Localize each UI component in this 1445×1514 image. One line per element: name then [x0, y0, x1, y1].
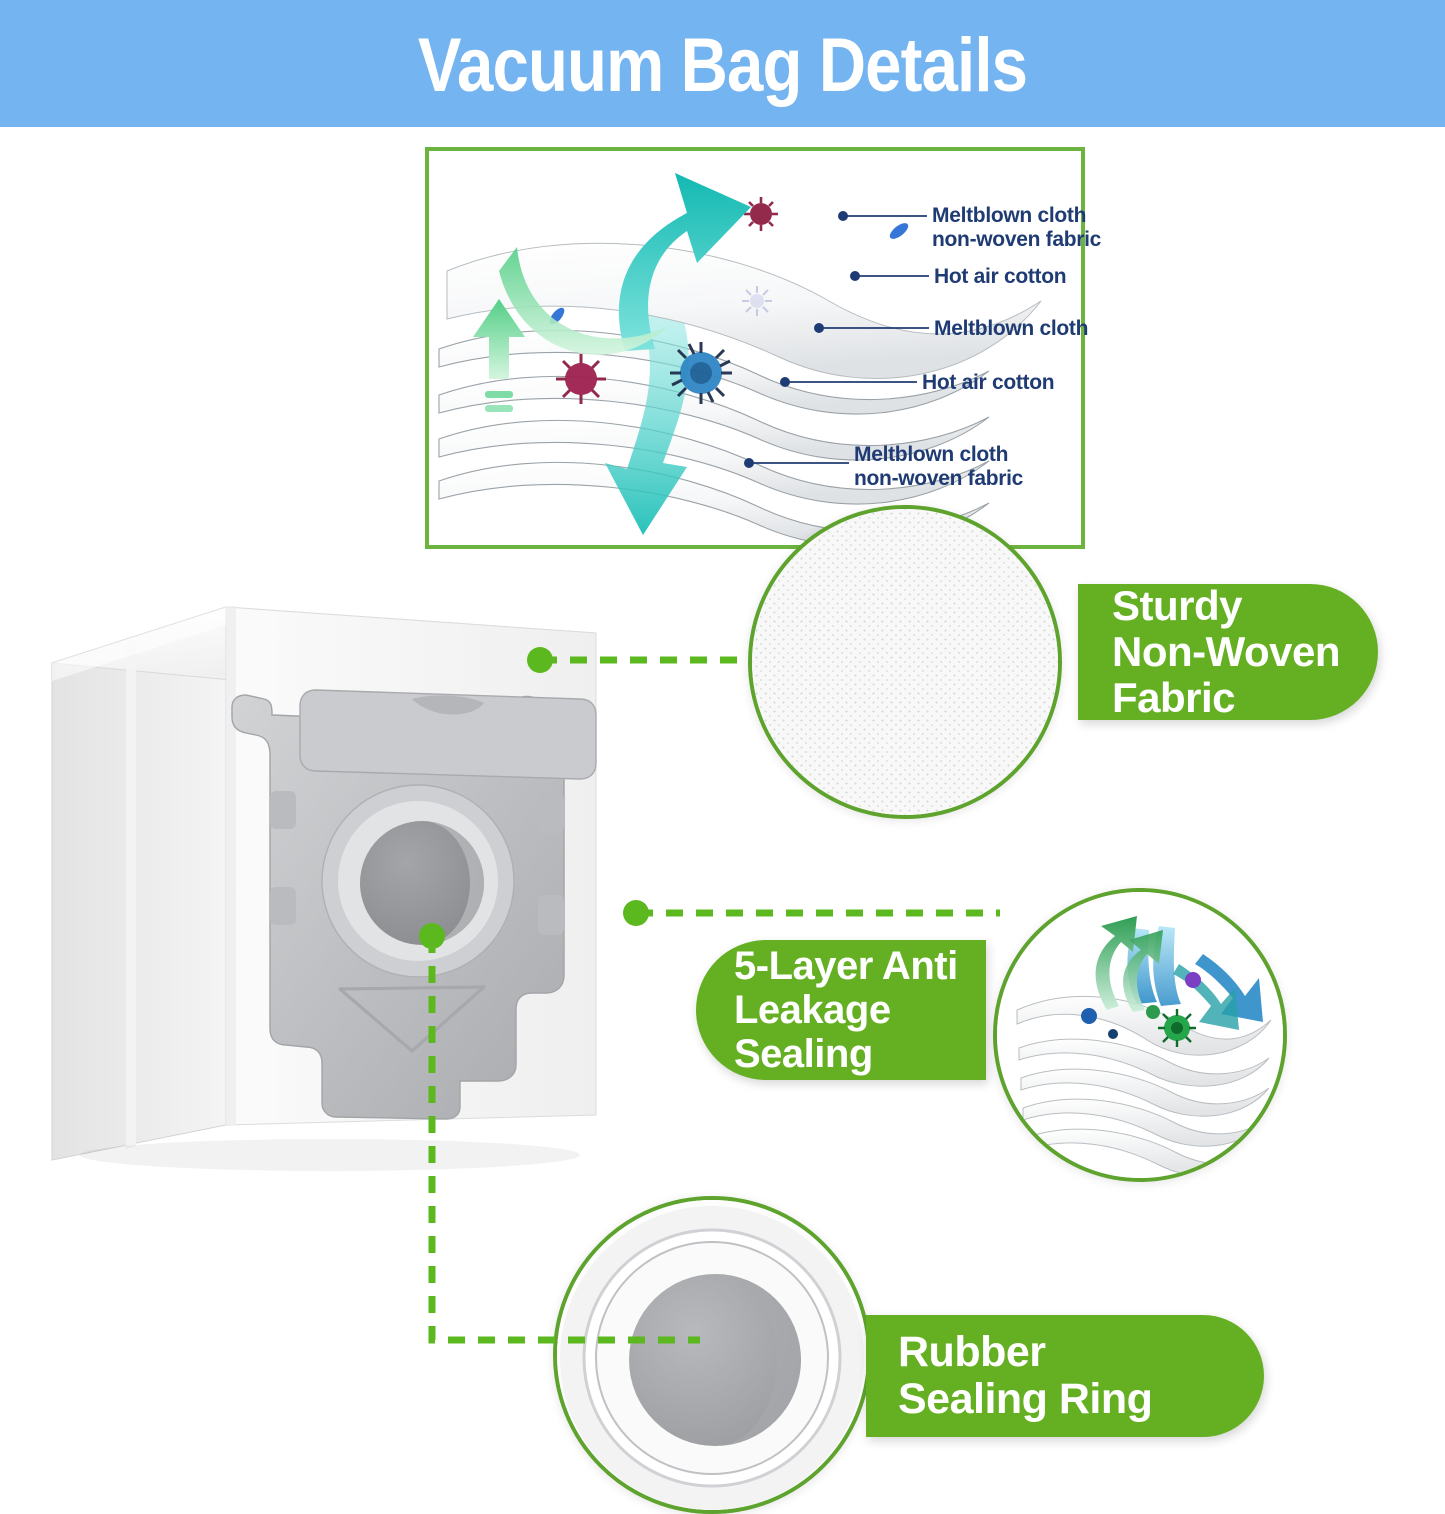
- fabric-texture: [752, 509, 1058, 815]
- badge-rubber-line1: Rubber: [898, 1329, 1152, 1376]
- badge-layer-line2: Leakage: [734, 988, 958, 1032]
- inset-sealing-ring-closeup: [553, 1196, 871, 1514]
- badge-rubber-line2: Sealing Ring: [898, 1376, 1152, 1423]
- layer-label-1-line1: Meltblown cloth: [932, 204, 1101, 228]
- layer-label-5: Meltblown cloth non-woven fabric: [854, 443, 1023, 490]
- layer-label-4: Hot air cotton: [922, 371, 1054, 395]
- badge-rubber-sealing-ring[interactable]: Rubber Sealing Ring: [866, 1315, 1264, 1437]
- layer-label-3-line1: Meltblown cloth: [934, 317, 1088, 341]
- badge-sturdy-non-woven-fabric[interactable]: Sturdy Non-Woven Fabric: [1078, 584, 1378, 720]
- vacuum-dust-bag-illustration: [40, 595, 680, 1220]
- layer-label-2: Hot air cotton: [934, 265, 1066, 289]
- layer-diagram-panel: Meltblown cloth non-woven fabric Hot air…: [425, 147, 1085, 549]
- layer-label-1-line2: non-woven fabric: [932, 228, 1101, 252]
- header-banner: Vacuum Bag Details: [0, 0, 1445, 127]
- badge-five-layer-anti-leakage-sealing[interactable]: 5-Layer Anti Leakage Sealing: [696, 940, 986, 1080]
- layer-label-2-line1: Hot air cotton: [934, 265, 1066, 289]
- page-title: Vacuum Bag Details: [101, 22, 1344, 109]
- layer-label-4-line1: Hot air cotton: [922, 371, 1054, 395]
- layer-label-3: Meltblown cloth: [934, 317, 1088, 341]
- sealing-ring-mini: [557, 1200, 867, 1510]
- inset-non-woven-fabric-closeup: [748, 505, 1062, 819]
- badge-layer-line3: Sealing: [734, 1032, 958, 1076]
- inset-layer-stack-closeup: [993, 888, 1287, 1182]
- badge-sturdy-line3: Fabric: [1112, 675, 1340, 721]
- badge-sturdy-line1: Sturdy: [1112, 583, 1340, 629]
- layer-label-1: Meltblown cloth non-woven fabric: [932, 204, 1101, 251]
- layer-label-5-line1: Meltblown cloth: [854, 443, 1023, 467]
- bag-port-opening: [322, 785, 514, 977]
- badge-sturdy-line2: Non-Woven: [1112, 629, 1340, 675]
- bag-side-face: [52, 607, 226, 1160]
- badge-layer-line1: 5-Layer Anti: [734, 944, 958, 988]
- layer-stack-mini: [997, 892, 1283, 1178]
- layer-label-5-line2: non-woven fabric: [854, 467, 1023, 491]
